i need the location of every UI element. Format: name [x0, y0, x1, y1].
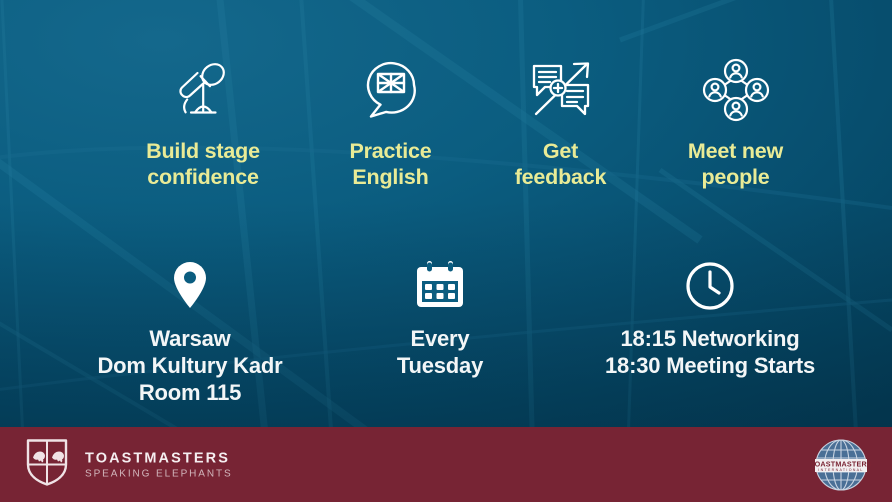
- globe-logo-subtitle: INTERNATIONAL: [818, 467, 863, 471]
- detail-item-times: 18:15 Networking 18:30 Meeting Starts: [560, 255, 860, 380]
- elephant-shield-crest-icon: [26, 438, 68, 491]
- club-branding: TOASTMASTERS SPEAKING ELEPHANTS: [26, 438, 233, 491]
- club-subtitle: SPEAKING ELEPHANTS: [85, 468, 233, 479]
- detail-item-schedule-day: Every Tuesday: [360, 255, 520, 380]
- footer-bar: TOASTMASTERS SPEAKING ELEPHANTS TOASTM: [0, 427, 892, 502]
- calendar-icon: [413, 255, 467, 317]
- benefit-item-meet-new-people: Meet new people: [663, 52, 808, 190]
- detail-label: Warsaw Dom Kultury Kadr Room 115: [60, 326, 320, 406]
- people-network-icon: [702, 52, 770, 128]
- benefit-label: Practice English: [323, 139, 458, 190]
- benefit-label: Get feedback: [493, 139, 628, 190]
- details-row: Warsaw Dom Kultury Kadr Room 115: [60, 255, 860, 406]
- detail-item-location: Warsaw Dom Kultury Kadr Room 115: [60, 255, 320, 406]
- feedback-chat-arrow-icon: [526, 52, 596, 128]
- presentation-slide: Build stage confidence Practice English: [0, 0, 892, 502]
- benefit-item-build-stage-confidence: Build stage confidence: [118, 52, 288, 190]
- detail-label: Every Tuesday: [360, 326, 520, 380]
- benefit-item-get-feedback: Get feedback: [493, 52, 628, 190]
- speech-bubble-uk-flag-icon: [358, 52, 424, 128]
- club-name: TOASTMASTERS: [85, 450, 233, 466]
- detail-label: 18:15 Networking 18:30 Meeting Starts: [560, 326, 860, 380]
- microphone-icon: [170, 52, 236, 128]
- benefits-row: Build stage confidence Practice English: [118, 52, 808, 190]
- benefit-item-practice-english: Practice English: [323, 52, 458, 190]
- slide-content: Build stage confidence Practice English: [0, 0, 892, 427]
- toastmasters-international-globe-icon: TOASTMASTERS INTERNATIONAL: [808, 435, 874, 495]
- location-pin-icon: [166, 255, 214, 317]
- clock-icon: [683, 255, 737, 317]
- benefit-label: Build stage confidence: [118, 139, 288, 190]
- benefit-label: Meet new people: [663, 139, 808, 190]
